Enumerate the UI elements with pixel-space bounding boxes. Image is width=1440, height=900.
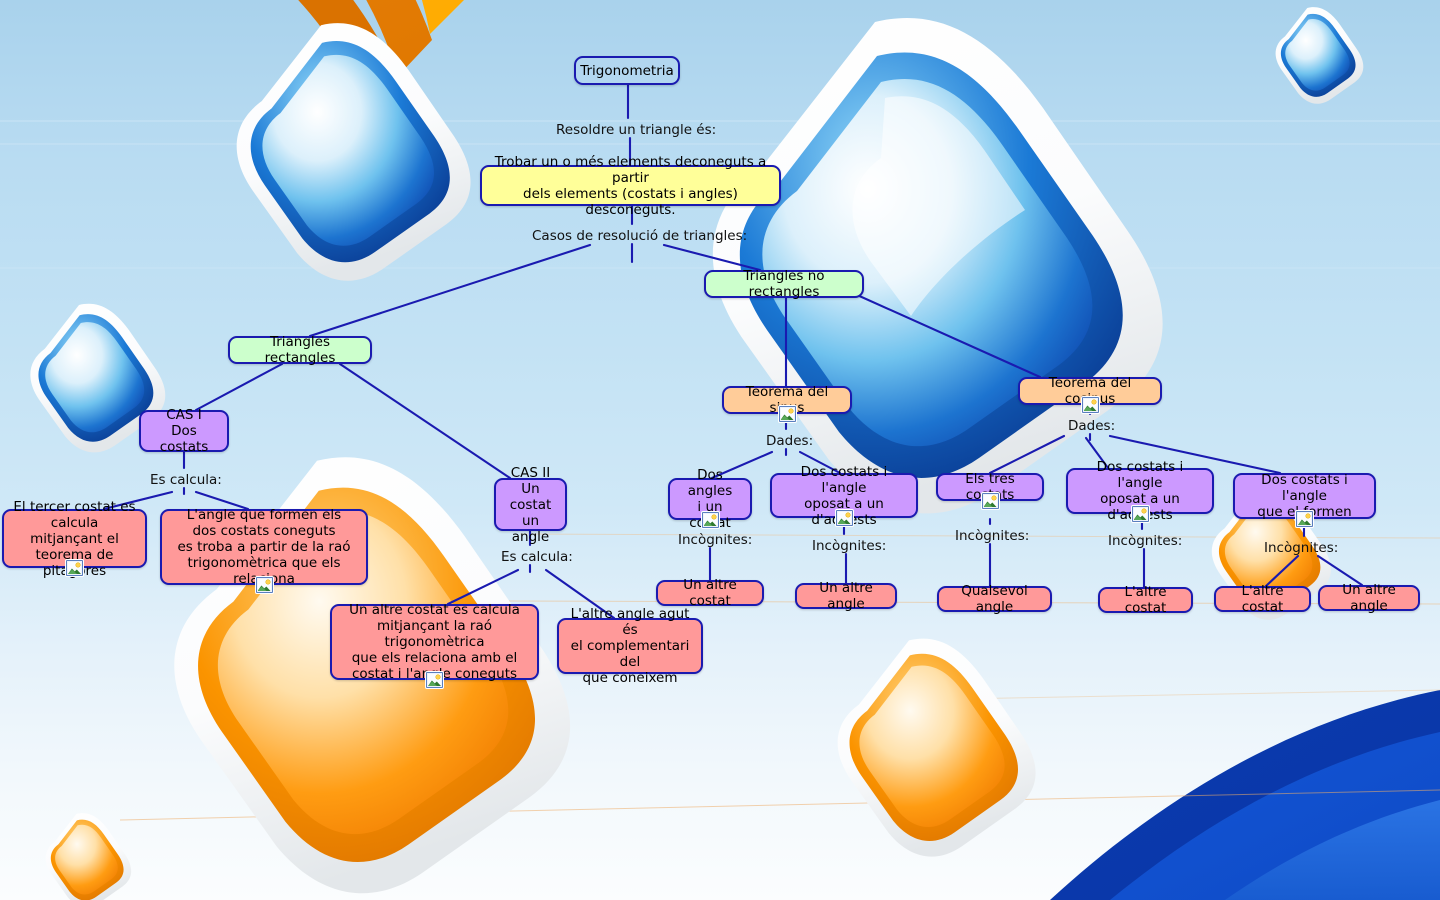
link-label-l-inc5: Incògnites: — [1264, 540, 1338, 556]
map-node-root[interactable]: Trigonometria — [574, 56, 680, 85]
link-label-l-casos: Casos de resolució de triangles: — [532, 228, 747, 244]
image-icon[interactable] — [982, 493, 999, 509]
map-node-label: L'altre angle agut és el complementari d… — [568, 606, 692, 686]
image-icon[interactable] — [836, 510, 853, 526]
image-icon[interactable] — [1082, 397, 1099, 413]
map-node-label: Triangles no rectangles — [715, 268, 853, 300]
image-icon[interactable] — [256, 577, 273, 593]
map-node-cas2[interactable]: CAS II Un costat un angle — [494, 478, 567, 531]
image-icon[interactable] — [1132, 506, 1149, 522]
image-icon[interactable] — [779, 406, 796, 422]
map-node-c-i4[interactable]: Un altre angle — [1318, 585, 1420, 611]
map-node-label: Qualsevol angle — [948, 583, 1041, 615]
map-node-label: Un altre costat — [667, 577, 753, 609]
map-node-s-i2[interactable]: Un altre angle — [795, 583, 897, 609]
link-label-l-inc4: Incògnites: — [1108, 533, 1182, 549]
map-node-label: Triangles rectangles — [239, 334, 361, 366]
map-node-label: Un altre costat es calcula mitjançant la… — [341, 602, 528, 682]
link-label-l-inc1: Incògnites: — [678, 532, 752, 548]
map-node-label: L'altre costat — [1109, 584, 1182, 616]
map-node-label: L'angle que formen els dos costats coneg… — [171, 507, 357, 587]
map-node-label: CAS II Un costat un angle — [505, 465, 556, 545]
link-label-l-dades2: Dades: — [1068, 418, 1115, 434]
map-node-label: Un altre angle — [806, 580, 886, 612]
map-node-def[interactable]: Trobar un o més elements deconeguts a pa… — [480, 165, 781, 206]
link-label-l-dades1: Dades: — [766, 433, 813, 449]
map-node-label: Trigonometria — [580, 63, 674, 79]
map-node-p4[interactable]: L'altre angle agut és el complementari d… — [557, 618, 703, 674]
map-node-cas1[interactable]: CAS I Dos costats — [139, 410, 229, 452]
link-label-l-calc2: Es calcula: — [501, 549, 573, 565]
map-node-label: Trobar un o més elements deconeguts a pa… — [491, 154, 770, 218]
map-node-label: CAS I Dos costats — [150, 407, 218, 455]
map-node-c-i1[interactable]: Qualsevol angle — [937, 586, 1052, 612]
image-icon[interactable] — [426, 672, 443, 688]
map-node-rect[interactable]: Triangles rectangles — [228, 336, 372, 364]
map-node-p3[interactable]: Un altre costat es calcula mitjançant la… — [330, 604, 539, 680]
map-node-p2[interactable]: L'angle que formen els dos costats coneg… — [160, 509, 368, 585]
map-node-norect[interactable]: Triangles no rectangles — [704, 270, 864, 298]
link-label-l-inc2: Incògnites: — [812, 538, 886, 554]
concept-map-canvas: Resoldre un triangle és:Casos de resoluc… — [0, 0, 1440, 900]
map-node-label: L'altre costat — [1225, 583, 1300, 615]
map-node-label: Un altre angle — [1329, 582, 1409, 614]
link-label-l-resoldre: Resoldre un triangle és: — [556, 122, 716, 138]
image-icon[interactable] — [702, 512, 719, 528]
map-node-c-i3[interactable]: L'altre costat — [1214, 586, 1311, 612]
map-node-s-i1[interactable]: Un altre costat — [656, 580, 764, 606]
link-label-l-inc3: Incògnites: — [955, 528, 1029, 544]
image-icon[interactable] — [1296, 511, 1313, 527]
link-label-l-calc1: Es calcula: — [150, 472, 222, 488]
map-node-c-i2[interactable]: L'altre costat — [1098, 587, 1193, 613]
image-icon[interactable] — [66, 560, 83, 576]
